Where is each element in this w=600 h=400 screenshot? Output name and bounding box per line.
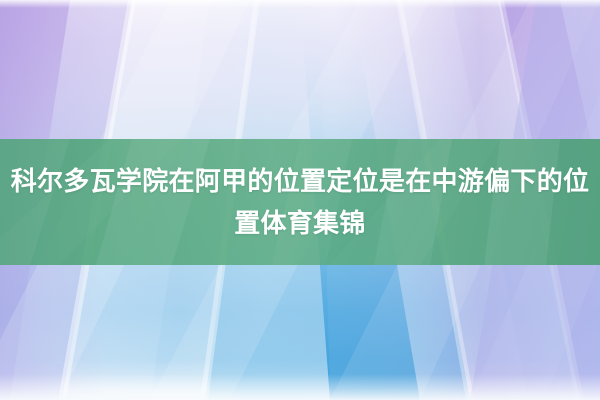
banner-image: 科尔多瓦学院在阿甲的位置定位是在中游偏下的位 置体育集锦 xyxy=(0,0,600,400)
headline-line-2: 置体育集锦 xyxy=(234,202,366,244)
headline-line-1: 科尔多瓦学院在阿甲的位置定位是在中游偏下的位 xyxy=(11,160,590,202)
banner-headline: 科尔多瓦学院在阿甲的位置定位是在中游偏下的位 置体育集锦 xyxy=(0,139,600,265)
